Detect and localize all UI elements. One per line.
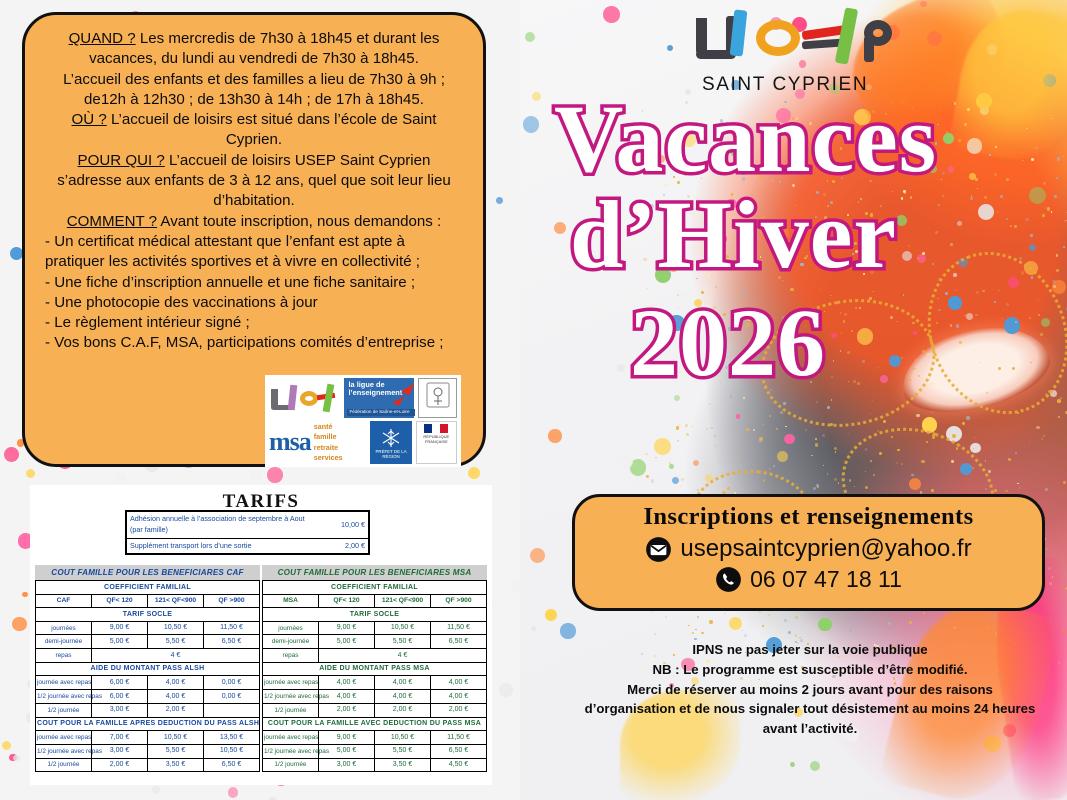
info-block-0: QUAND ? Les mercredis de 7h30 à 18h45 et… — [45, 29, 463, 70]
confetti-dot — [2, 741, 11, 750]
partner-logos-row-1: la ligue de l’enseignement Fédération de… — [269, 378, 457, 418]
value-cell: 5,50 € — [375, 744, 431, 758]
info-lead-quand: QUAND ? — [69, 30, 136, 47]
confetti-dot — [667, 45, 673, 51]
table-row: 1/2 journée avec repas6,00 €4,00 €0,00 € — [36, 690, 260, 704]
row-label: 1/2 journée avec repas — [36, 690, 92, 704]
info-bullet-0: - Un certificat médical attestant que l’… — [45, 232, 463, 273]
row-label: journées — [263, 621, 319, 635]
value-cell: 2,00 € — [148, 703, 204, 717]
table-row: 1/2 journée3,00 €3,50 €4,50 € — [263, 758, 487, 772]
confetti-dot — [468, 467, 480, 479]
confetti-dot — [228, 787, 238, 797]
row-label: 1/2 journée — [263, 758, 319, 772]
glitter-speck — [975, 437, 976, 438]
value-cell: 10,50 € — [375, 731, 431, 745]
value-cell: 6,50 € — [204, 758, 260, 772]
table-row: COUT POUR LA FAMILLE APRES DEDUCTION DU … — [36, 717, 260, 731]
confetti-dot — [12, 617, 26, 631]
glitter-speck — [709, 620, 713, 624]
value-cell: 2,00 € — [319, 703, 375, 717]
value-cell: 6,50 € — [431, 744, 487, 758]
table-row: demi-journée5,00 €5,50 €6,50 € — [36, 635, 260, 649]
section-header: TARIF SOCLE — [36, 608, 260, 622]
row-label: journée avec repas — [263, 731, 319, 745]
glitter-speck — [1061, 541, 1062, 542]
value-cell: 11,50 € — [204, 621, 260, 635]
value-cell: 4,00 € — [431, 676, 487, 690]
glitter-speck — [646, 475, 649, 478]
row-label: journée avec repas — [263, 676, 319, 690]
info-panel: QUAND ? Les mercredis de 7h30 à 18h45 et… — [22, 12, 486, 467]
confetti-dot — [870, 750, 875, 755]
glitter-speck — [645, 453, 648, 456]
table-row: TARIF SOCLE — [263, 608, 487, 622]
value-cell: 6,50 € — [204, 635, 260, 649]
notice-line-1: IPNS ne pas jeter sur la voie publique — [556, 640, 1064, 660]
column-header: 121< QF<900 — [148, 594, 204, 607]
glitter-speck — [741, 465, 742, 466]
row-label: repas — [36, 649, 92, 663]
glitter-speck — [834, 478, 837, 481]
mairie-crest-logo — [418, 378, 457, 418]
value-cell: 10,50 € — [148, 621, 204, 635]
glitter-speck — [652, 611, 653, 612]
republique-francaise-logo: RÉPUBLIQUE FRANÇAISE — [416, 421, 457, 464]
glitter-speck — [715, 445, 716, 446]
prefecture-label: PRÉFET DE LA RÉGION — [370, 449, 411, 459]
partner-logos-row-2: msa santé famille retraite services — [269, 421, 457, 464]
value-cell: 13,50 € — [204, 731, 260, 745]
notice-block: IPNS ne pas jeter sur la voie publique N… — [556, 640, 1064, 739]
row-label: journée avec repas — [36, 731, 92, 745]
table-row: CAFQF< 120121< QF<900QF >900 — [36, 594, 260, 607]
confetti-dot — [545, 609, 557, 621]
glitter-speck — [1063, 481, 1066, 484]
confetti-dot — [267, 467, 283, 483]
glitter-speck — [695, 629, 697, 631]
glitter-speck — [815, 443, 819, 447]
info-body-ou: L’accueil de loisirs est situé dans l’éc… — [107, 111, 437, 148]
value-cell: 6,50 € — [431, 635, 487, 649]
value-cell: 9,00 € — [319, 731, 375, 745]
info-block-2: OÙ ? L’accueil de loisirs est situé dans… — [45, 110, 463, 151]
notice-line-5: avant l’activité. — [556, 719, 1064, 739]
info-bullet-1: - Une fiche d’inscription annuelle et un… — [45, 273, 463, 293]
confetti-dot — [523, 116, 539, 132]
caf-table: COEFFICIENT FAMILIALCAFQF< 120121< QF<90… — [35, 580, 260, 772]
glitter-speck — [952, 434, 956, 438]
section-header: TARIF SOCLE — [263, 608, 487, 622]
msa-word-2: retraite — [314, 443, 338, 452]
table-row: 1/2 journée avec repas3,00 €5,50 €10,50 … — [36, 744, 260, 758]
value-cell: 0,00 € — [204, 676, 260, 690]
flyer-page: SAINT CYPRIEN QUAND ? Les mercredis de 7… — [0, 0, 1067, 800]
value-cell: 11,50 € — [431, 731, 487, 745]
glitter-speck — [817, 486, 819, 488]
table-row: TARIF SOCLE — [36, 608, 260, 622]
info-bullet-4: - Vos bons C.A.F, MSA, participations co… — [45, 333, 463, 353]
glitter-speck — [835, 451, 837, 453]
glitter-speck — [827, 473, 829, 475]
notice-line-3: Merci de réserver au moins 2 jours avant… — [556, 680, 1064, 700]
value-cell: 3,00 € — [92, 703, 148, 717]
value-cell: 4,00 € — [319, 676, 375, 690]
crest-icon — [425, 381, 451, 415]
republique-label: RÉPUBLIQUE FRANÇAISE — [417, 434, 456, 444]
snowflake-icon — [378, 427, 404, 449]
confetti-dot — [654, 438, 671, 455]
column-header: 121< QF<900 — [375, 594, 431, 607]
table-row: demi-journée5,00 €5,50 €6,50 € — [263, 635, 487, 649]
table-row: 1/2 journée avec repas5,00 €5,50 €6,50 € — [263, 744, 487, 758]
confetti-dot — [618, 454, 633, 469]
glitter-speck — [769, 468, 770, 469]
coefficient-header: COEFFICIENT FAMILIAL — [36, 581, 260, 595]
glitter-speck — [655, 457, 657, 459]
confetti-dot — [511, 580, 523, 592]
fee-amount: 2,00 € — [316, 538, 369, 554]
glitter-speck — [795, 616, 797, 618]
glitter-speck — [654, 633, 656, 635]
fee-row: Adhésion annuelle à l’association de sep… — [126, 511, 369, 538]
table-row: journée avec repas4,00 €4,00 €4,00 € — [263, 676, 487, 690]
glitter-speck — [1005, 490, 1008, 493]
table-row: journées9,00 €10,50 €11,50 € — [36, 621, 260, 635]
value-cell: 4 € — [92, 649, 260, 663]
msa-logo: msa santé famille retraite services — [269, 421, 366, 464]
value-cell: 4,00 € — [375, 690, 431, 704]
info-bullet-3: - Le règlement intérieur signé ; — [45, 313, 463, 333]
msa-word-1: famille — [314, 432, 337, 441]
fee-label: Adhésion annuelle à l’association de sep… — [126, 511, 316, 538]
caf-band: COUT FAMILLE POUR LES BENEFICIARES CAF — [35, 565, 260, 580]
value-cell: 9,00 € — [92, 621, 148, 635]
confetti-dot — [777, 451, 788, 462]
title-line-3: 2026 — [630, 296, 826, 390]
notice-line-4: d’organisation et de nous signaler tout … — [556, 699, 1064, 719]
row-label: journée avec repas — [36, 676, 92, 690]
row-label: demi-journée — [263, 635, 319, 649]
glitter-speck — [813, 487, 816, 490]
column-header: QF< 120 — [92, 594, 148, 607]
value-cell: 4,00 € — [375, 676, 431, 690]
msa-taglines: santé famille retraite services — [314, 422, 343, 464]
value-cell: 4 € — [319, 649, 487, 663]
table-row: COEFFICIENT FAMILIAL — [263, 581, 487, 595]
info-block-4: COMMENT ? Avant toute inscription, nous … — [45, 212, 463, 232]
contact-phone[interactable]: 06 07 47 18 11 — [750, 566, 902, 593]
table-row: journée avec repas7,00 €10,50 €13,50 € — [36, 731, 260, 745]
value-cell: 10,50 € — [148, 731, 204, 745]
msa-table: COEFFICIENT FAMILIALMSAQF< 120121< QF<90… — [262, 580, 487, 772]
value-cell: 11,50 € — [431, 621, 487, 635]
table-row: journée avec repas6,00 €4,00 €0,00 € — [36, 676, 260, 690]
glitter-speck — [741, 621, 743, 623]
ligue-subtitle: Fédération de Saône-et-Loire — [347, 409, 415, 416]
confetti-dot — [4, 447, 19, 462]
value-cell: 3,50 € — [375, 758, 431, 772]
confetti-dot — [13, 755, 20, 762]
section-header: COUT POUR LA FAMILLE AVEC DEDUCTION DU P… — [263, 717, 487, 731]
value-cell: 3,00 € — [319, 758, 375, 772]
ligue-enseignement-logo: la ligue de l’enseignement Fédération de… — [344, 378, 414, 418]
contact-heading: Inscriptions et renseignements — [585, 503, 1032, 531]
section-header: AIDE DU MONTANT PASS MSA — [263, 662, 487, 676]
confetti-dot — [560, 623, 575, 638]
table-row: repas4 € — [36, 649, 260, 663]
value-cell: 5,50 € — [148, 744, 204, 758]
value-cell: 4,00 € — [431, 690, 487, 704]
row-label: journées — [36, 621, 92, 635]
glitter-speck — [736, 452, 737, 453]
coefficient-header: COEFFICIENT FAMILIAL — [263, 581, 487, 595]
partner-logos-block: la ligue de l’enseignement Fédération de… — [265, 375, 461, 467]
confetti-dot — [496, 197, 503, 204]
glitter-speck — [888, 622, 891, 625]
poster-title: Vacances d’Hiver 2026 — [560, 92, 1060, 432]
table-row: COEFFICIENT FAMILIAL — [36, 581, 260, 595]
value-cell: 3,50 € — [148, 758, 204, 772]
info-lead-ou: OÙ ? — [72, 111, 107, 128]
value-cell: 9,00 € — [319, 621, 375, 635]
row-label: 1/2 journée avec repas — [263, 690, 319, 704]
value-cell: 4,00 € — [148, 676, 204, 690]
value-cell: 2,00 € — [92, 758, 148, 772]
confetti-dot — [818, 618, 832, 632]
info-block-3: POUR QUI ? L’accueil de loisirs USEP Sai… — [45, 151, 463, 212]
value-cell: 0,00 € — [204, 690, 260, 704]
table-row: journée avec repas9,00 €10,50 €11,50 € — [263, 731, 487, 745]
column-header: CAF — [36, 594, 92, 607]
info-lead-pourqui: POUR QUI ? — [78, 152, 165, 169]
glitter-speck — [714, 435, 716, 437]
confetti-dot — [152, 786, 160, 794]
value-cell: 2,00 € — [375, 703, 431, 717]
tarifs-panel: TARIFS Adhésion annuelle à l’association… — [30, 485, 492, 785]
section-header: AIDE DU MONTANT PASS ALSH — [36, 662, 260, 676]
msa-word-3: services — [314, 453, 343, 462]
info-block-1: L’accueil des enfants et des familles a … — [45, 70, 463, 111]
usep-logo: SAINT CYPRIEN — [690, 6, 905, 94]
glitter-speck — [834, 447, 837, 450]
row-label: repas — [263, 649, 319, 663]
fee-label: Supplément transport lors d’une sortie — [126, 538, 316, 554]
value-cell: 5,00 € — [92, 635, 148, 649]
value-cell: 5,50 € — [148, 635, 204, 649]
table-row: MSAQF< 120121< QF<900QF >900 — [263, 594, 487, 607]
value-cell: 10,50 € — [204, 744, 260, 758]
ligue-arrow-icon — [401, 380, 414, 395]
fee-amount: 10,00 € — [316, 511, 369, 538]
table-row: 1/2 journée avec repas4,00 €4,00 €4,00 € — [263, 690, 487, 704]
value-cell: 10,50 € — [375, 621, 431, 635]
caf-table-wrapper: COUT FAMILLE POUR LES BENEFICIARES CAF C… — [35, 565, 260, 772]
contact-box: Inscriptions et renseignements usepsaint… — [572, 494, 1045, 611]
column-header: QF< 120 — [319, 594, 375, 607]
glitter-speck — [692, 632, 694, 634]
glitter-speck — [1029, 441, 1030, 442]
column-header: QF >900 — [431, 594, 487, 607]
contact-email[interactable]: usepsaintcyprien@yahoo.fr — [680, 535, 971, 563]
row-label: 1/2 journée avec repas — [263, 744, 319, 758]
msa-band: COUT FAMILLE POUR LES BENEFICIARES MSA — [262, 565, 487, 580]
table-row: COUT POUR LA FAMILLE AVEC DEDUCTION DU P… — [263, 717, 487, 731]
column-header: QF >900 — [204, 594, 260, 607]
table-row: journées9,00 €10,50 €11,50 € — [263, 621, 487, 635]
confetti-dot — [784, 434, 795, 445]
value-cell: 2,00 € — [431, 703, 487, 717]
row-label: 1/2 journée avec repas — [36, 744, 92, 758]
french-flag-icon — [424, 424, 448, 433]
table-row: 1/2 journée2,00 €2,00 €2,00 € — [263, 703, 487, 717]
msa-table-wrapper: COUT FAMILLE POUR LES BENEFICIARES MSA C… — [262, 565, 487, 772]
fees-table: Adhésion annuelle à l’association de sep… — [125, 510, 370, 555]
envelope-icon — [645, 536, 672, 563]
glitter-speck — [686, 433, 689, 436]
table-row: 1/2 journée2,00 €3,50 €6,50 € — [36, 758, 260, 772]
info-body-quand: Les mercredis de 7h30 à 18h45 et durant … — [89, 30, 439, 67]
usep-mini-logo — [269, 383, 340, 413]
contact-phone-row[interactable]: 06 07 47 18 11 — [585, 566, 1032, 593]
row-label: demi-journée — [36, 635, 92, 649]
usep-wordmark — [690, 6, 905, 64]
section-header: COUT POUR LA FAMILLE APRES DEDUCTION DU … — [36, 717, 260, 731]
fee-row: Supplément transport lors d’une sortie2,… — [126, 538, 369, 554]
value-cell: 4,50 € — [431, 758, 487, 772]
value-cell: 5,00 € — [319, 635, 375, 649]
glitter-speck — [701, 632, 704, 635]
confetti-dot — [116, 473, 126, 483]
info-body-accueil: L’accueil des enfants et des familles a … — [63, 71, 445, 108]
contact-email-row[interactable]: usepsaintcyprien@yahoo.fr — [585, 535, 1032, 563]
confetti-dot — [532, 92, 541, 101]
value-cell: 6,00 € — [92, 676, 148, 690]
info-body-comment: Avant toute inscription, nous demandons … — [157, 213, 441, 230]
table-row: repas4 € — [263, 649, 487, 663]
value-cell: 7,00 € — [92, 731, 148, 745]
title-line-2: d’Hiver — [570, 188, 897, 282]
row-label: 1/2 journée — [36, 703, 92, 717]
row-label: 1/2 journée — [263, 703, 319, 717]
glitter-speck — [773, 465, 775, 467]
value-cell: 4,00 € — [148, 690, 204, 704]
table-row: AIDE DU MONTANT PASS MSA — [263, 662, 487, 676]
title-line-1: Vacances — [554, 92, 937, 186]
column-header: MSA — [263, 594, 319, 607]
glitter-speck — [680, 485, 682, 487]
info-bullet-2: - Une photocopie des vaccinations à jour — [45, 293, 463, 313]
glitter-speck — [985, 460, 986, 461]
info-text: QUAND ? Les mercredis de 7h30 à 18h45 et… — [45, 29, 463, 354]
glitter-speck — [838, 482, 839, 483]
notice-line-2: NB : Le programme est susceptible d’être… — [556, 660, 1064, 680]
info-lead-comment: COMMENT ? — [67, 213, 157, 230]
table-row: AIDE DU MONTANT PASS ALSH — [36, 662, 260, 676]
table-row: 1/2 journée3,00 €2,00 € — [36, 703, 260, 717]
confetti-dot — [499, 683, 513, 697]
glitter-speck — [1063, 156, 1064, 157]
confetti-dot — [603, 6, 620, 23]
glitter-speck — [744, 634, 747, 637]
value-cell: 5,50 € — [375, 635, 431, 649]
glitter-speck — [665, 616, 667, 618]
phone-icon — [715, 566, 742, 593]
value-cell — [204, 703, 260, 717]
msa-word-0: santé — [314, 422, 333, 431]
glitter-speck — [1046, 548, 1048, 550]
msa-wordmark: msa — [269, 431, 311, 453]
ligue-line2: l’enseignement — [348, 388, 402, 397]
row-label: 1/2 journée — [36, 758, 92, 772]
glitter-speck — [923, 612, 925, 614]
prefecture-logo: PRÉFET DE LA RÉGION — [370, 421, 411, 464]
